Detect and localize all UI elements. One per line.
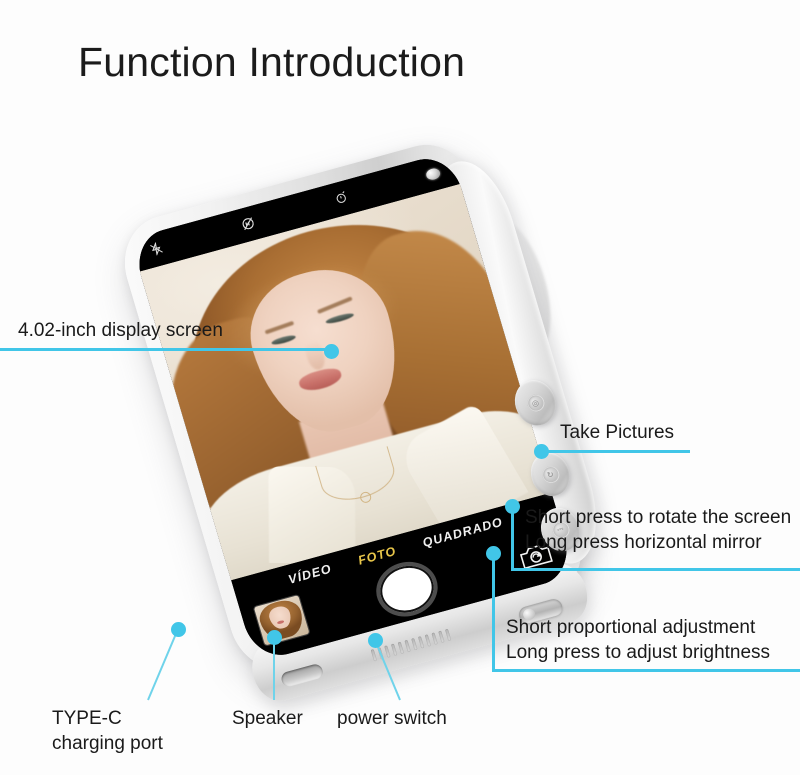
callout-leader-power — [0, 0, 800, 775]
callout-dot-type-c — [171, 622, 186, 637]
callout-dot-power — [368, 633, 383, 648]
callout-dot-take-pictures — [534, 444, 549, 459]
callout-dot-rotate — [505, 499, 520, 514]
callout-dot-display — [324, 344, 339, 359]
callout-dot-brightness — [486, 546, 501, 561]
callout-dot-speaker — [267, 630, 282, 645]
infographic-canvas: Function Introduction — [0, 0, 800, 775]
